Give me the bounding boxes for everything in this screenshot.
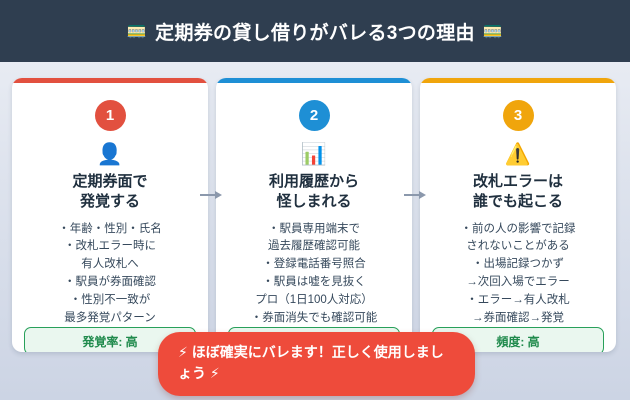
arrow-head <box>419 191 426 199</box>
cards-row: 1 👤 定期券面で 発覚する ・年齢・性別・氏名 ・改札エラー時に 有人改札へ … <box>12 78 618 352</box>
page-title-text: 定期券の貸し借りがバレる3つの理由 <box>155 18 475 45</box>
arrow-head <box>215 191 222 199</box>
reason-card-2[interactable]: 2 📊 利用履歴から 怪しまれる ・駅員専用端末で 過去履歴確認可能 ・登録電話… <box>216 78 412 352</box>
train-icon-right: 🚃 <box>483 23 503 39</box>
person-silhouette-icon: 👤 <box>97 144 123 165</box>
card-title: 改札エラーは 誰でも起こる <box>473 172 563 212</box>
reason-card-1[interactable]: 1 👤 定期券面で 発覚する ・年齢・性別・氏名 ・改札エラー時に 有人改札へ … <box>12 78 208 352</box>
card-body-text: ・前の人の影響で記録 されないことがある ・出場記録つかず →次回入場でエラー … <box>461 221 576 328</box>
card-number-badge: 3 <box>503 100 534 131</box>
card-body-text: ・駅員専用端末で 過去履歴確認可能 ・登録電話番号照合 ・駅員は嘘を見抜く プロ… <box>251 221 378 328</box>
card-number-badge: 1 <box>95 100 126 131</box>
page-title: 🚃 定期券の貸し借りがバレる3つの理由 🚃 <box>127 18 503 45</box>
bar-chart-icon: 📊 <box>301 144 327 165</box>
warning-banner: ⚡ ほぼ確実にバレます！正しく使用しましょう ⚡ <box>158 332 475 396</box>
connector-arrow-1-to-2 <box>200 190 222 199</box>
warning-triangle-icon: ⚠️ <box>505 144 531 165</box>
infographic-page: 🚃 定期券の貸し借りがバレる3つの理由 🚃 1 👤 定期券面で 発覚する ・年齢… <box>0 0 630 400</box>
train-icon-left: 🚃 <box>127 23 147 39</box>
card-number-badge: 2 <box>299 100 330 131</box>
connector-arrow-2-to-3 <box>404 190 426 199</box>
reason-card-3[interactable]: 3 ⚠️ 改札エラーは 誰でも起こる ・前の人の影響で記録 されないことがある … <box>420 78 616 352</box>
header-bar: 🚃 定期券の貸し借りがバレる3つの理由 🚃 <box>0 0 630 62</box>
card-title: 定期券面で 発覚する <box>72 172 147 212</box>
card-title: 利用履歴から 怪しまれる <box>269 172 359 212</box>
card-body-text: ・年齢・性別・氏名 ・改札エラー時に 有人改札へ ・駅員が券面確認 ・性別不一致… <box>58 221 162 328</box>
